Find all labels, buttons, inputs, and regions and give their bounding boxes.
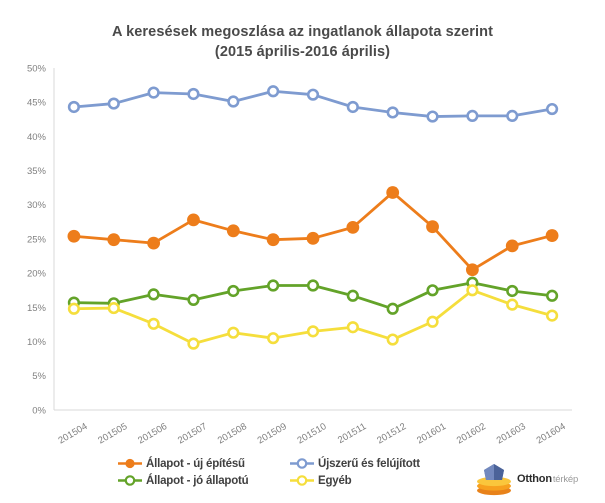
data-point-marker[interactable] [307, 232, 320, 245]
legend-item-uj-epitesu[interactable]: Állapot - új építésű [118, 457, 290, 470]
logo-stacked-layers-icon [474, 460, 514, 498]
chart-legend: Állapot - új építésű Újszerű és felújíto… [118, 455, 468, 489]
data-point-marker[interactable] [547, 291, 557, 301]
data-point-marker[interactable] [308, 90, 318, 100]
data-point-marker[interactable] [229, 97, 239, 107]
data-point-marker[interactable] [466, 263, 479, 276]
data-point-marker[interactable] [149, 290, 159, 300]
data-point-marker[interactable] [267, 233, 280, 246]
data-point-marker[interactable] [189, 89, 199, 99]
x-axis-tick-label: 201512 [375, 421, 408, 446]
data-point-marker[interactable] [428, 112, 438, 122]
y-axis-tick-label: 30% [27, 200, 47, 211]
data-point-marker[interactable] [506, 239, 519, 252]
data-point-marker[interactable] [348, 291, 358, 301]
y-axis-tick-label: 10% [27, 337, 47, 348]
data-point-marker[interactable] [187, 213, 200, 226]
data-point-marker[interactable] [147, 237, 160, 250]
data-point-marker[interactable] [109, 99, 119, 109]
data-point-marker[interactable] [149, 88, 159, 98]
line-chart-plot: 50%45%40%35%30%25%20%15%10%5%0% 20150420… [0, 0, 605, 503]
x-axis-tick-label: 201505 [96, 421, 129, 446]
data-point-marker[interactable] [109, 303, 119, 313]
data-point-marker[interactable] [68, 230, 81, 243]
data-point-marker[interactable] [546, 229, 559, 242]
data-point-marker[interactable] [388, 108, 398, 118]
y-axis-tick-label: 5% [32, 371, 46, 382]
data-point-marker[interactable] [547, 104, 557, 114]
x-axis-tick-label: 201504 [56, 421, 89, 446]
series-3 [69, 286, 557, 349]
y-axis-tick-label: 25% [27, 234, 47, 245]
data-point-marker[interactable] [348, 102, 358, 112]
data-point-marker[interactable] [308, 281, 318, 291]
data-point-marker[interactable] [468, 286, 478, 296]
legend-label-egyeb: Egyéb [318, 475, 352, 487]
legend-label-jo-allapotu: Állapot - jó állapotú [146, 475, 249, 487]
data-point-marker[interactable] [507, 286, 517, 296]
series-line [74, 192, 552, 269]
legend-marker-green [118, 474, 142, 487]
data-point-marker[interactable] [229, 286, 239, 296]
x-axis-tick-label: 201508 [216, 421, 249, 446]
data-point-marker[interactable] [547, 311, 557, 321]
x-axis-tick-label: 201601 [415, 421, 448, 446]
data-point-marker[interactable] [69, 304, 79, 314]
data-point-marker[interactable] [268, 86, 278, 96]
y-axis-tick-label: 45% [27, 98, 47, 109]
data-point-marker[interactable] [268, 333, 278, 343]
y-axis-tick-label: 35% [27, 166, 47, 177]
x-axis-tick-label: 201603 [495, 421, 528, 446]
y-axis-tick-label: 15% [27, 303, 47, 314]
data-point-marker[interactable] [107, 233, 120, 246]
data-point-marker[interactable] [388, 335, 398, 345]
data-point-marker[interactable] [388, 304, 398, 314]
data-point-marker[interactable] [426, 220, 439, 233]
x-axis: 2015042015052015062015072015082015092015… [56, 421, 567, 446]
data-point-marker[interactable] [507, 111, 517, 121]
x-axis-tick-label: 201506 [136, 421, 169, 446]
data-point-marker[interactable] [348, 322, 358, 332]
y-axis-tick-label: 40% [27, 132, 47, 143]
data-point-marker[interactable] [507, 300, 517, 310]
legend-label-uj-epitesu: Állapot - új építésű [146, 458, 245, 470]
data-point-marker[interactable] [189, 295, 199, 305]
data-point-marker[interactable] [428, 286, 438, 296]
legend-marker-yellow [290, 474, 314, 487]
y-axis-tick-label: 0% [32, 405, 46, 416]
x-axis-tick-label: 201602 [455, 421, 488, 446]
x-axis-tick-label: 201507 [176, 421, 209, 446]
x-axis-tick-label: 201604 [535, 421, 568, 446]
legend-label-ujszeru-felujitott: Újszerű és felújított [318, 458, 420, 470]
data-point-marker[interactable] [428, 317, 438, 327]
legend-item-ujszeru-felujitott[interactable]: Újszerű és felújított [290, 457, 468, 470]
y-axis-tick-label: 20% [27, 269, 47, 280]
data-point-marker[interactable] [227, 224, 240, 237]
logo-suffix: térkép [553, 474, 578, 485]
data-point-marker[interactable] [268, 281, 278, 291]
data-point-marker[interactable] [308, 327, 318, 337]
data-point-marker[interactable] [346, 221, 359, 234]
otthonterkep-logo[interactable]: Otthontérkép [474, 458, 602, 500]
logo-name: Otthon [517, 473, 552, 485]
x-axis-tick-label: 201511 [336, 421, 368, 446]
data-point-marker[interactable] [229, 328, 239, 338]
logo-wordmark: Otthontérkép [517, 473, 578, 485]
legend-item-egyeb[interactable]: Egyéb [290, 474, 468, 487]
chart-container: A keresések megoszlása az ingatlanok áll… [0, 0, 605, 503]
series-0 [68, 186, 559, 276]
data-point-marker[interactable] [468, 111, 478, 121]
series-1 [69, 86, 557, 121]
data-point-marker[interactable] [189, 339, 199, 349]
data-point-marker[interactable] [149, 319, 159, 329]
y-axis-tick-label: 50% [27, 63, 47, 74]
legend-marker-blue [290, 457, 314, 470]
data-series-group [68, 86, 559, 348]
x-axis-tick-label: 201509 [256, 421, 289, 446]
legend-marker-orange [118, 457, 142, 470]
legend-item-jo-allapotu[interactable]: Állapot - jó állapotú [118, 474, 290, 487]
data-point-marker[interactable] [69, 102, 79, 112]
data-point-marker[interactable] [386, 186, 399, 199]
x-axis-tick-label: 201510 [296, 421, 329, 446]
